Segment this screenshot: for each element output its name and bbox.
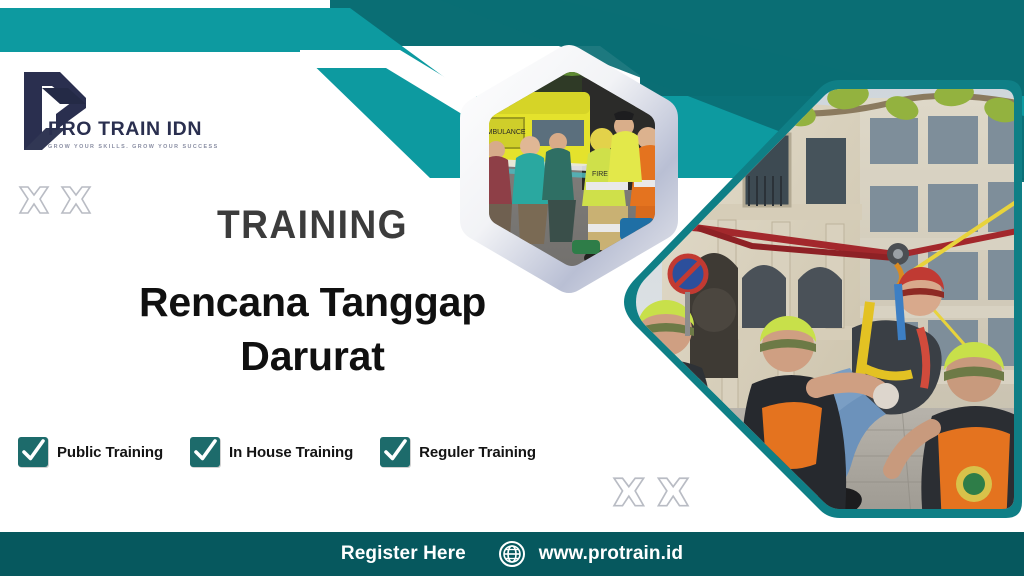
checkbox-checked[interactable]	[18, 437, 48, 467]
brand-logo[interactable]: PRO TRAIN IDN GROW YOUR SKILLS. GROW YOU…	[14, 68, 244, 163]
brand-name: PRO TRAIN IDN	[48, 120, 248, 140]
training-option-public[interactable]: Public Training	[18, 437, 163, 467]
check-icon	[18, 437, 48, 467]
training-option-label: Public Training	[57, 444, 163, 461]
page-title-line1: Rencana Tanggap	[139, 279, 486, 325]
training-option-reguler[interactable]: Reguler Training	[380, 437, 536, 467]
training-option-in-house[interactable]: In House Training	[190, 437, 353, 467]
globe-icon	[499, 541, 525, 567]
checkbox-checked[interactable]	[190, 437, 220, 467]
training-option-label: In House Training	[229, 444, 353, 461]
footer-bar: Register Here www.protrain.id	[0, 532, 1024, 576]
page-title-line2: Darurat	[240, 333, 384, 379]
brand-logo-text: PRO TRAIN IDN GROW YOUR SKILLS. GROW YOU…	[48, 120, 248, 150]
training-options-list: Public Training In House Training Regule…	[18, 437, 536, 467]
emergency-responders-photo: AMBULANCE	[452, 42, 706, 296]
svg-text:FIRE: FIRE	[592, 171, 608, 178]
brand-tagline: GROW YOUR SKILLS. GROW YOUR SUCCESS	[48, 144, 248, 150]
check-icon	[380, 437, 410, 467]
training-option-label: Reguler Training	[419, 444, 536, 461]
flyer-canvas: PRO TRAIN IDN GROW YOUR SKILLS. GROW YOU…	[0, 0, 1024, 576]
register-here-label[interactable]: Register Here	[341, 543, 466, 565]
check-icon	[190, 437, 220, 467]
website-url[interactable]: www.protrain.id	[539, 543, 683, 565]
checkbox-checked[interactable]	[380, 437, 410, 467]
